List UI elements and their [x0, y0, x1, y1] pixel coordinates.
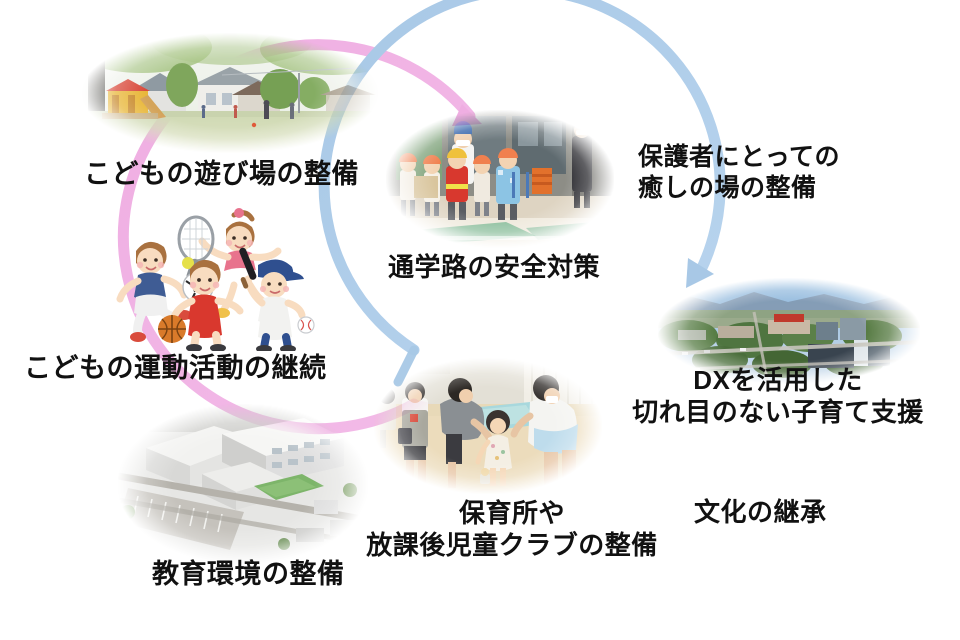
- caption-sports: こどもの運動活動の継続: [24, 352, 327, 385]
- illustration-sports-kids: [100, 205, 332, 351]
- photo-school: [118, 404, 368, 564]
- caption-culture: 文化の継承: [694, 497, 827, 529]
- caption-parent-line1: 保護者にとっての: [638, 143, 840, 171]
- photo-route-safety: [386, 110, 614, 248]
- photo-playground: [82, 33, 378, 153]
- caption-parent-rest: 保護者にとっての 癒しの場の整備: [638, 142, 840, 203]
- caption-dx-line1: DXを活用した: [693, 365, 863, 395]
- caption-playground: こどもの遊び場の整備: [84, 158, 359, 191]
- caption-dx-support: DXを活用した 切れ目のない子育て支援: [628, 365, 928, 428]
- photo-nursery: [374, 358, 602, 494]
- diagram-canvas: こどもの遊び場の整備 こどもの運動活動の継続 教育環境の整備 通学路の安全対策 …: [0, 0, 960, 640]
- caption-route-safety: 通学路の安全対策: [388, 252, 600, 284]
- caption-nursery-line1: 保育所や: [459, 498, 565, 528]
- caption-dx-line2: 切れ目のない子育て支援: [628, 397, 928, 429]
- caption-nursery-line2: 放課後児童クラブの整備: [362, 530, 662, 562]
- caption-nursery: 保育所や 放課後児童クラブの整備: [362, 498, 662, 561]
- caption-parent-line2: 癒しの場の整備: [638, 173, 840, 204]
- caption-school: 教育環境の整備: [152, 558, 345, 591]
